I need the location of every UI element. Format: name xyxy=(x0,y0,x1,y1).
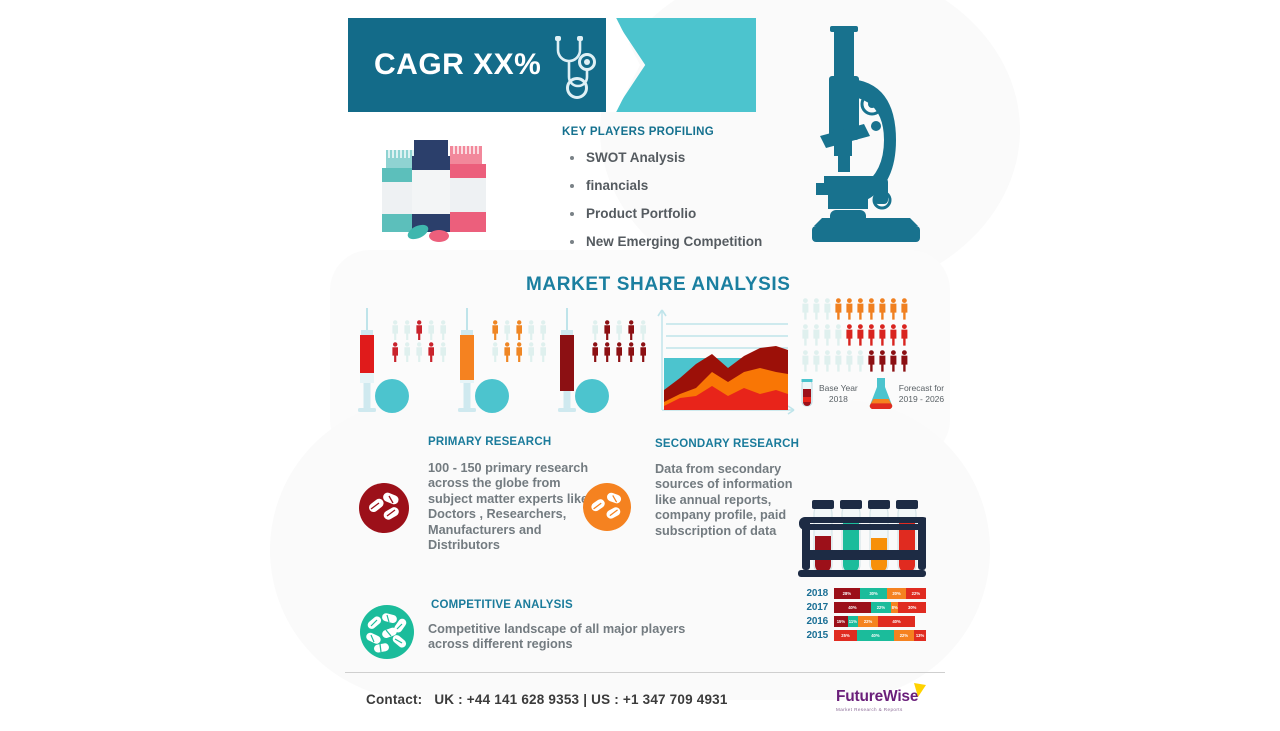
bar-segment: 22% xyxy=(858,616,878,627)
primary-research-body: 100 - 150 primary research across the gl… xyxy=(428,461,598,554)
bar-track: 15% 11% 22% 40% xyxy=(834,616,926,627)
microscope-icon xyxy=(810,18,928,248)
stethoscope-icon xyxy=(548,36,608,100)
bar-segment: 28% xyxy=(834,588,860,599)
test-tube-icon xyxy=(800,379,814,409)
cagr-banner: CAGR XX% xyxy=(348,18,756,112)
test-tube-3 xyxy=(868,500,890,574)
bar-segment: 20% xyxy=(887,588,905,599)
bar-segment: 40% xyxy=(834,602,871,613)
pills-circle-icon xyxy=(359,483,409,533)
bar-year-label: 2017 xyxy=(800,602,828,613)
list-item: Product Portfolio xyxy=(562,206,762,221)
legend-line-1: Forecast for xyxy=(899,383,944,394)
people-pictogram-chart xyxy=(800,296,916,374)
bar-segment: 25% xyxy=(834,630,857,641)
bar-year-label: 2018 xyxy=(800,588,828,599)
bar-segment: 40% xyxy=(878,616,915,627)
legend-forecast-text: Forecast for 2019 - 2026 xyxy=(899,383,944,404)
market-share-title: MARKET SHARE ANALYSIS xyxy=(526,274,791,296)
legend-line-2: 2019 - 2026 xyxy=(899,394,944,405)
test-tube-rack-icon xyxy=(798,492,926,584)
competitive-analysis-body: Competitive landscape of all major playe… xyxy=(428,622,718,653)
contact-value: UK : +44 141 628 9353 | US : +1 347 709 … xyxy=(434,692,727,707)
key-players-section: KEY PLAYERS PROFILING SWOT Analysis fina… xyxy=(562,126,762,262)
pills-circle-icon xyxy=(583,483,631,531)
test-tube-4 xyxy=(896,500,918,574)
key-players-list: SWOT Analysis financials Product Portfol… xyxy=(562,150,762,249)
footer-divider xyxy=(345,672,945,673)
legend-base-year: Base Year 2018 xyxy=(800,379,858,409)
table-row: 2016 15% 11% 22% 40% xyxy=(800,616,926,627)
table-row: 2015 25% 40% 22% 13% xyxy=(800,630,926,641)
legend-forecast: Forecast for 2019 - 2026 xyxy=(868,378,944,410)
contact-info: Contact: UK : +44 141 628 9353 | US : +1… xyxy=(366,692,728,707)
secondary-research-body: Data from secondary sources of informati… xyxy=(655,462,805,539)
bar-segment: 22% xyxy=(894,630,914,641)
bar-segment: 22% xyxy=(906,588,926,599)
secondary-research-title: SECONDARY RESEARCH xyxy=(655,438,799,450)
bar-segment: 22% xyxy=(871,602,891,613)
bar-segment: 11% xyxy=(848,616,858,627)
legend-line-2: 2018 xyxy=(819,394,858,405)
table-row: 2018 28% 30% 20% 22% xyxy=(800,588,926,599)
capsules-circle-icon xyxy=(360,605,414,659)
syringe-pictogram-chart xyxy=(352,300,652,420)
bar-year-label: 2015 xyxy=(800,630,828,641)
test-tube-1 xyxy=(812,500,834,574)
infographic-page: CAGR XX% xyxy=(0,0,1280,731)
bar-track: 40% 22% 8% 30% xyxy=(834,602,926,613)
primary-research-title: PRIMARY RESEARCH xyxy=(428,436,551,448)
bar-segment: 15% xyxy=(834,616,848,627)
key-players-title: KEY PLAYERS PROFILING xyxy=(562,126,762,138)
cagr-label: CAGR XX% xyxy=(374,48,541,82)
logo-tagline: Market Research & Reports xyxy=(836,707,918,712)
list-item: New Emerging Competition xyxy=(562,234,762,249)
bar-segment: 13% xyxy=(914,630,926,641)
list-item: financials xyxy=(562,178,762,193)
competitive-analysis-title: COMPETITIVE ANALYSIS xyxy=(431,599,573,611)
futurewise-logo[interactable]: FutureWise Market Research & Reports xyxy=(836,688,918,712)
logo-text-future: Future xyxy=(836,688,883,705)
market-trend-area-chart xyxy=(652,302,802,420)
share-by-year-bar-chart: 2018 28% 30% 20% 22% 2017 40% 22% 8% 30%… xyxy=(800,588,926,644)
bar-segment: 30% xyxy=(860,588,888,599)
flask-icon xyxy=(868,378,894,410)
bar-segment: 8% xyxy=(891,602,898,613)
bar-track: 28% 30% 20% 22% xyxy=(834,588,926,599)
logo-flag-icon xyxy=(913,683,927,699)
legend-base-year-text: Base Year 2018 xyxy=(819,383,858,404)
bar-segment: 30% xyxy=(898,602,926,613)
bar-track: 25% 40% 22% 13% xyxy=(834,630,926,641)
bar-year-label: 2016 xyxy=(800,616,828,627)
list-item: SWOT Analysis xyxy=(562,150,762,165)
table-row: 2017 40% 22% 8% 30% xyxy=(800,602,926,613)
market-share-legend: Base Year 2018 Forecast for 2019 - 2026 xyxy=(800,378,944,410)
bar-segment: 40% xyxy=(857,630,894,641)
pill-bottles-icon xyxy=(372,140,500,250)
test-tube-2 xyxy=(840,500,862,574)
contact-label: Contact: xyxy=(366,692,422,707)
legend-line-1: Base Year xyxy=(819,383,858,394)
